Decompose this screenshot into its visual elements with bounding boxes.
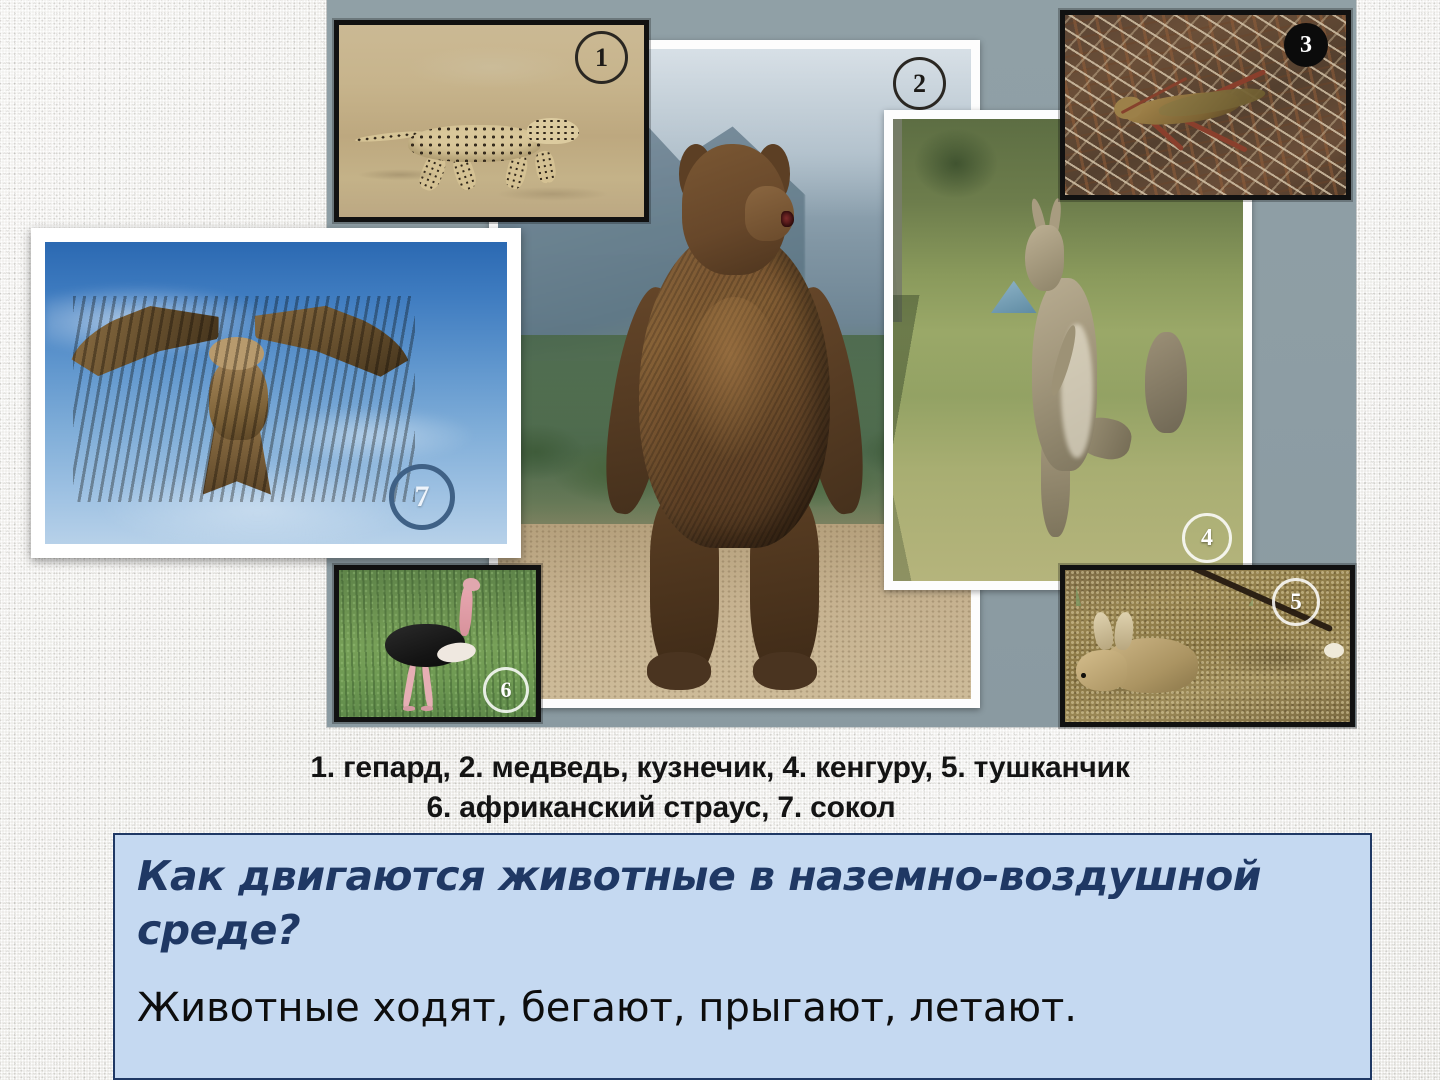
- cheetah-tail: [355, 129, 427, 143]
- photo-badge-5-number: 5: [1290, 589, 1302, 615]
- photo-badge-5: 5: [1272, 578, 1320, 626]
- falcon-body: [209, 358, 267, 440]
- photo-badge-4-number: 4: [1201, 525, 1213, 552]
- photo-legend-caption: 1. гепард, 2. медведь, кузнечик, 4. кенг…: [0, 748, 1440, 828]
- ostrich-leg-2: [421, 662, 433, 708]
- question-text: Как двигаются животные в наземно-воздушн…: [137, 849, 1350, 957]
- photo-badge-2-number: 2: [913, 69, 926, 99]
- bear-chest-highlight: [687, 297, 782, 461]
- photo-badge-7: 7: [389, 464, 455, 530]
- photo-badge-6-number: 6: [501, 677, 512, 703]
- cheetah-figure: [370, 111, 608, 188]
- kangaroo-figure: [1012, 211, 1124, 544]
- bear-head: [682, 144, 788, 275]
- photo-badge-1-number: 1: [595, 43, 608, 73]
- grasshopper-figure: [1110, 69, 1295, 152]
- ostrich-neck: [458, 585, 473, 636]
- cheetah-body: [408, 125, 541, 162]
- falcon-figure: [73, 296, 415, 501]
- cheetah-leg-3: [503, 152, 530, 191]
- legend-line-1: 1. гепард, 2. медведь, кузнечик, 4. кенг…: [0, 748, 1440, 788]
- jerboa-figure: [1076, 616, 1224, 710]
- bear-open-mouth: [781, 211, 794, 228]
- cheetah-leg-4: [533, 150, 557, 185]
- jerboa-ear-left: [1091, 611, 1115, 651]
- photo-badge-4: 4: [1182, 513, 1232, 563]
- ostrich-leg-1: [402, 662, 416, 708]
- cheetah-leg-2: [450, 154, 479, 192]
- falcon-wing-left: [59, 288, 229, 398]
- photo-badge-3: 3: [1284, 23, 1328, 67]
- answer-text: Животные ходят, бегают, прыгают, летают.: [137, 983, 1350, 1033]
- question-answer-box: Как двигаются животные в наземно-воздушн…: [113, 833, 1372, 1080]
- jerboa-eye: [1081, 673, 1086, 678]
- photo-badge-7-number: 7: [415, 480, 430, 514]
- bear-paw-right: [753, 652, 817, 690]
- sparse-plants: [1076, 573, 1253, 606]
- falcon-wing-right: [244, 287, 421, 399]
- jerboa-head: [1076, 650, 1126, 691]
- bear-snout: [745, 186, 794, 241]
- photo-badge-3-number: 3: [1300, 32, 1312, 59]
- kangaroo-head: [1025, 225, 1063, 292]
- ostrich-foot-2: [421, 706, 433, 711]
- photo-badge-2: 2: [893, 57, 946, 110]
- cheetah-head: [527, 118, 579, 144]
- second-kangaroo: [1145, 332, 1187, 434]
- bear-paw-left: [647, 652, 711, 690]
- legend-line-2: 6. африканский страус, 7. сокол: [0, 788, 1440, 828]
- cheetah-leg-1: [416, 151, 450, 193]
- ostrich-head: [463, 578, 480, 591]
- photo-badge-1: 1: [575, 31, 628, 84]
- ostrich-foot-1: [403, 706, 415, 711]
- slide-canvas: 2 1: [0, 0, 1440, 1080]
- photo-badge-6: 6: [483, 667, 529, 713]
